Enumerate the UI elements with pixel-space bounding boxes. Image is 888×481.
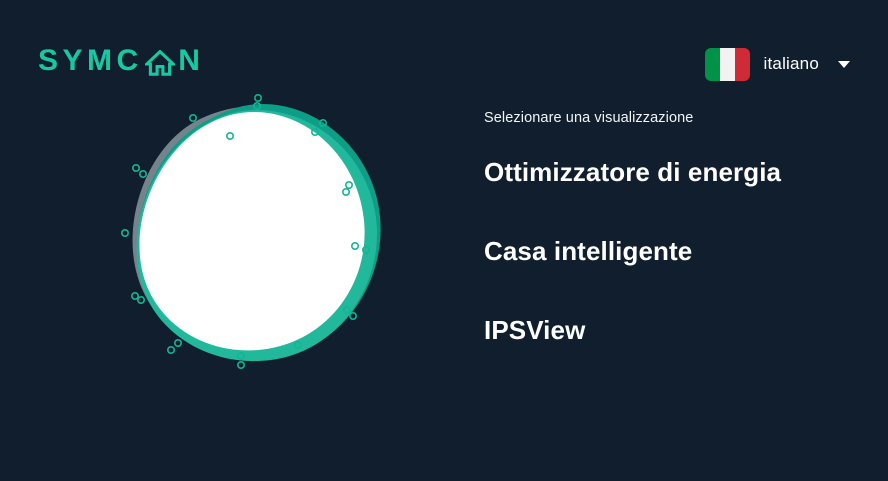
menu-item-ipsview[interactable]: IPSView [484, 316, 864, 346]
language-selector[interactable]: italiano [705, 47, 850, 81]
symcon-logo[interactable]: SYMC N [38, 44, 204, 78]
app-root: SYMC N italiano [0, 0, 888, 481]
italy-flag-icon [705, 48, 750, 81]
language-label: italiano [764, 54, 819, 74]
logo-text-after: N [178, 46, 204, 76]
menu-item-smart-home[interactable]: Casa intelligente [484, 237, 864, 267]
chevron-down-icon[interactable] [838, 61, 850, 68]
blob-illustration [110, 88, 400, 378]
menu-item-energy-optimizer[interactable]: Ottimizzatore di energia [484, 158, 864, 188]
visualization-menu: Selezionare una visualizzazione Ottimizz… [484, 110, 864, 346]
menu-subtitle: Selezionare una visualizzazione [484, 110, 864, 127]
house-icon [145, 48, 175, 74]
logo-text-before: SYMC [38, 46, 143, 76]
page-header: SYMC N italiano [0, 0, 888, 110]
